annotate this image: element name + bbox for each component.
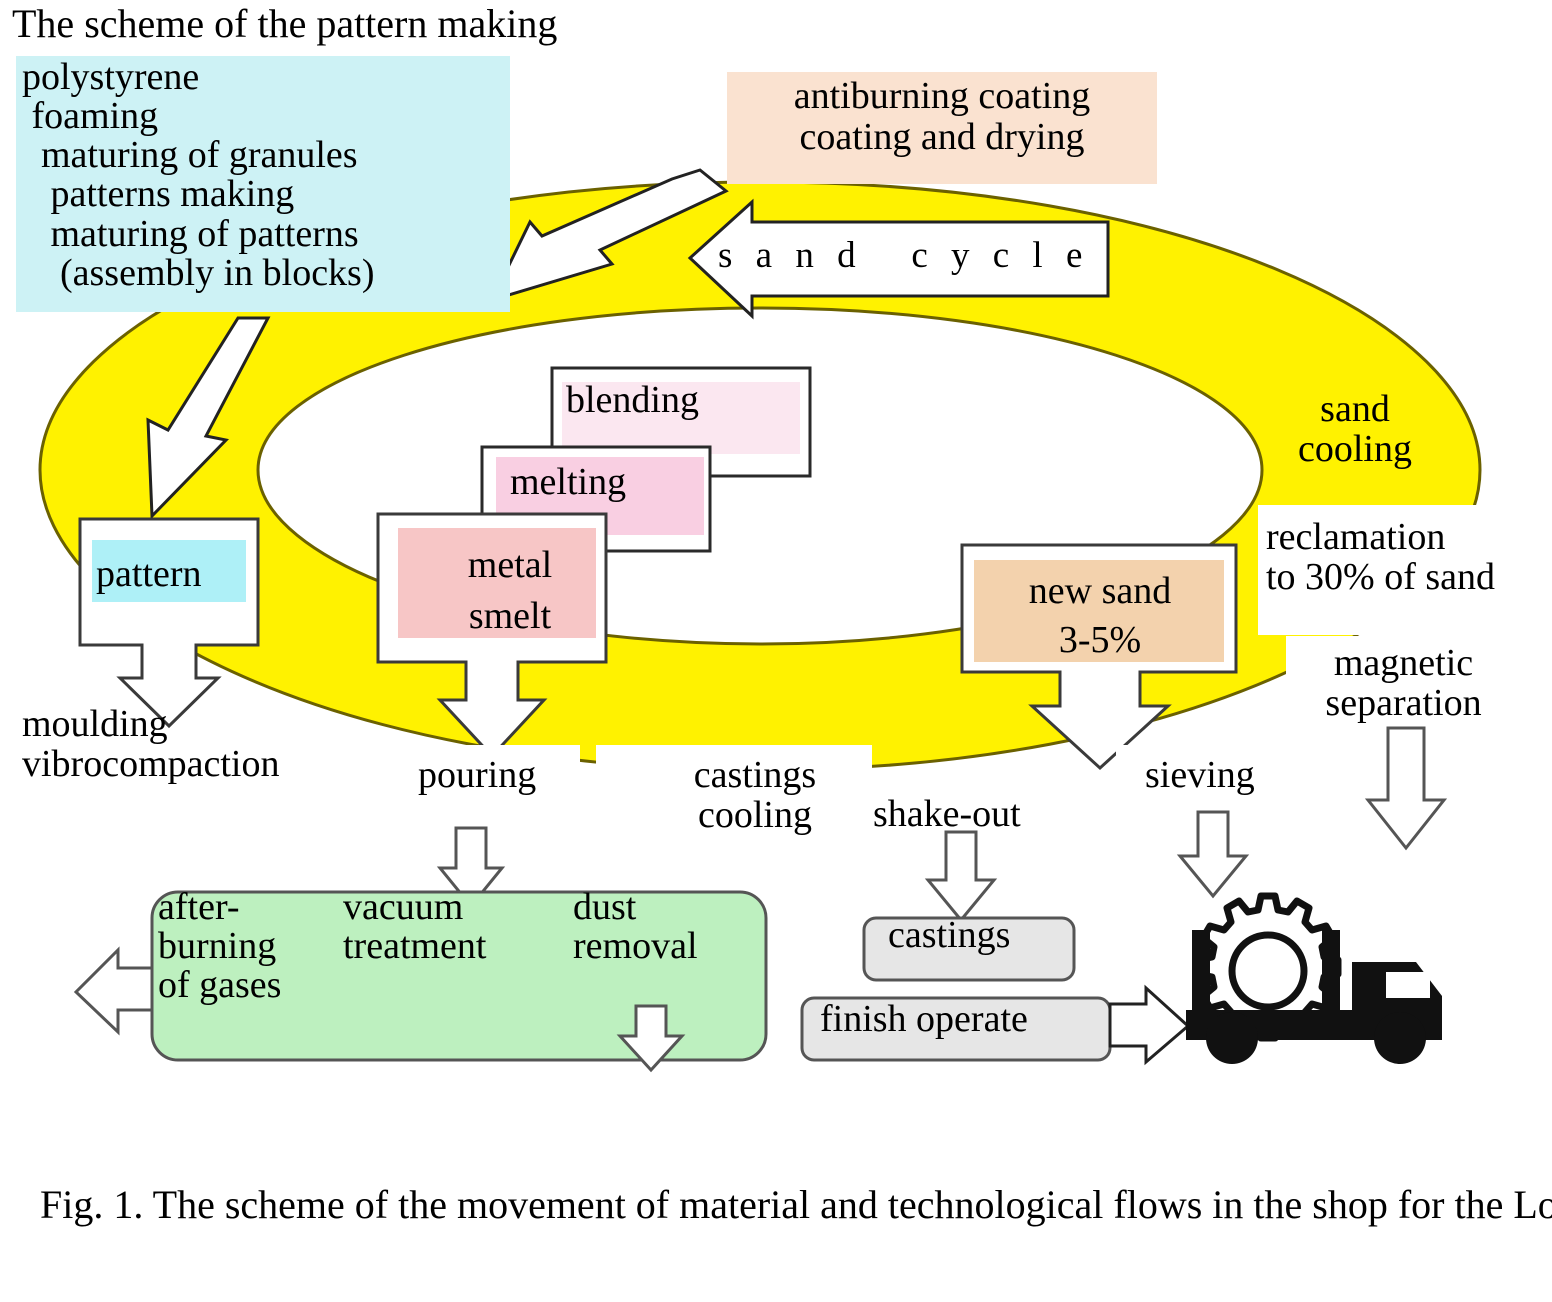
gases-text-cell: after- (158, 888, 343, 927)
page-title: The scheme of the pattern making (12, 4, 557, 45)
gases-text-row: after-vacuumdust (158, 888, 758, 927)
sand-cycle-label: s a n d c y c l e (718, 237, 1089, 275)
gases-text-cell (343, 966, 573, 1005)
shake-out-label: shake-out (873, 795, 1021, 834)
gear-hub (1232, 935, 1304, 1007)
arrow-shape-right-shipping (1110, 988, 1188, 1062)
reclamation-label: reclamation to 30% of sand (1266, 518, 1546, 598)
pattern-box-graphic (80, 519, 258, 726)
gases-text-cell: of gases (158, 966, 343, 1005)
truck-stake-right (1322, 930, 1340, 1010)
arrow-shape-left-gases-out (76, 950, 152, 1032)
castings-cooling-label: castings cooling (655, 756, 855, 836)
gases-text-row: burningtreatmentremoval (158, 927, 758, 966)
gases-text-cell: treatment (343, 927, 573, 966)
gases-block-text: after-vacuumdustburningtreatmentremovalo… (158, 888, 758, 1004)
pattern-making-text: polystyrene foaming maturing of granules… (22, 58, 375, 293)
pouring-label: pouring (418, 756, 536, 795)
gases-text-row: of gases (158, 966, 758, 1005)
arrow-sieving-down (1180, 812, 1246, 896)
figure-caption: Fig. 1. The scheme of the movement of ma… (40, 1175, 1512, 1235)
pattern-label: pattern (96, 555, 202, 594)
gases-text-cell: removal (573, 927, 758, 966)
sieving-label: sieving (1145, 756, 1255, 795)
truck-wheel-rear (1206, 1012, 1258, 1064)
gases-text-cell: burning (158, 927, 343, 966)
moulding-label: moulding vibrocompaction (22, 705, 279, 785)
arrow-shape-down-3 (1180, 812, 1246, 896)
truck-with-gear-icon (1186, 896, 1442, 1064)
truck-wheel-front (1374, 1012, 1426, 1064)
castings-label: castings (888, 916, 1010, 955)
gases-text-cell (573, 966, 758, 1005)
gases-text-cell: vacuum (343, 888, 573, 927)
finish-operate-label: finish operate (820, 1000, 1028, 1039)
truck-window (1386, 972, 1430, 998)
new-sand-label: new sand 3-5% (1000, 567, 1200, 666)
sand-cooling-label: sand cooling (1280, 390, 1430, 470)
arrow-shape-down-2 (928, 832, 994, 920)
truck-stake-left (1192, 930, 1210, 1010)
figure-canvas: The scheme of the pattern making polysty… (0, 0, 1552, 1302)
gases-text-cell: dust (573, 888, 758, 927)
melting-label: melting (510, 463, 626, 502)
antiburning-coating-text: antiburning coating coating and drying (742, 76, 1142, 157)
arrow-shakeout-to-castings (928, 832, 994, 920)
metal-smelt-label: metal smelt (430, 540, 590, 643)
blending-label: blending (566, 381, 699, 420)
magnetic-separation-label: magnetic separation (1296, 644, 1511, 724)
